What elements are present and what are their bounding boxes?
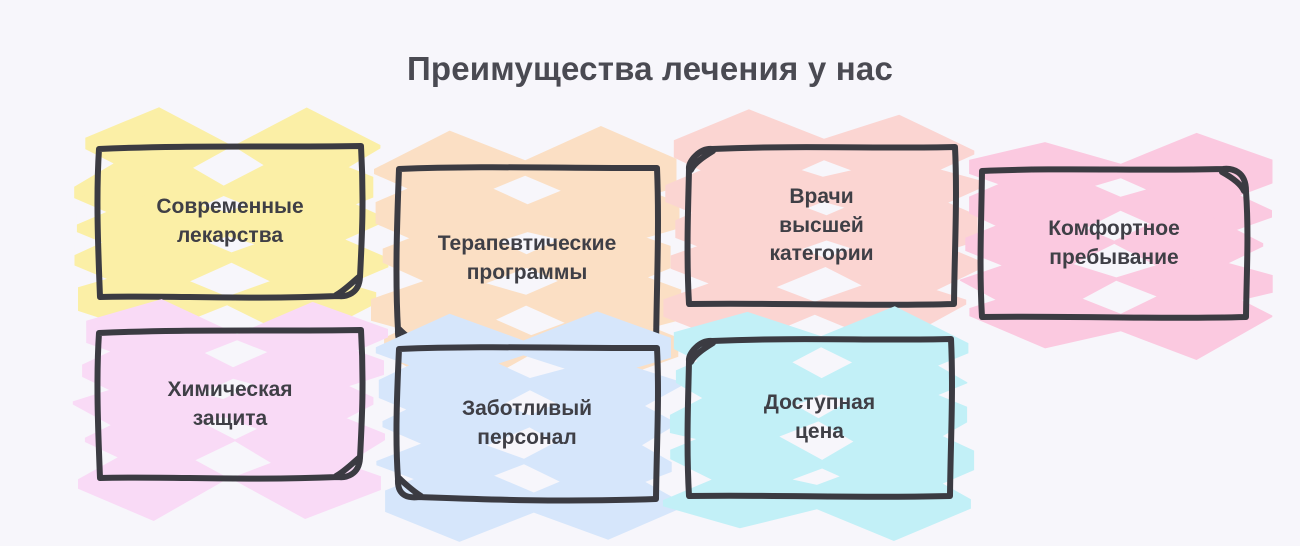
benefit-card-top-category-doctors[interactable]: Врачи высшей категории (687, 147, 956, 305)
benefit-card-modern-medicines[interactable]: Современные лекарства (97, 146, 363, 298)
card-shape-top-category-doctors (687, 147, 956, 305)
benefit-card-caring-staff[interactable]: Заботливый персонал (396, 347, 658, 500)
card-shape-modern-medicines (97, 146, 363, 298)
card-shape-chemical-protection (97, 330, 363, 479)
benefit-card-affordable-price[interactable]: Доступная цена (687, 339, 952, 497)
marker-fill (74, 107, 388, 342)
benefit-card-chemical-protection[interactable]: Химическая защита (97, 330, 363, 479)
card-shape-affordable-price (687, 339, 952, 497)
page-title: Преимущества лечения у нас (0, 50, 1300, 88)
benefits-infographic: Преимущества лечения у нас Современные л… (0, 0, 1300, 546)
benefit-card-comfortable-stay[interactable]: Комфортное пребывание (980, 169, 1248, 318)
card-shape-comfortable-stay (980, 169, 1248, 318)
card-shape-caring-staff (396, 347, 658, 500)
